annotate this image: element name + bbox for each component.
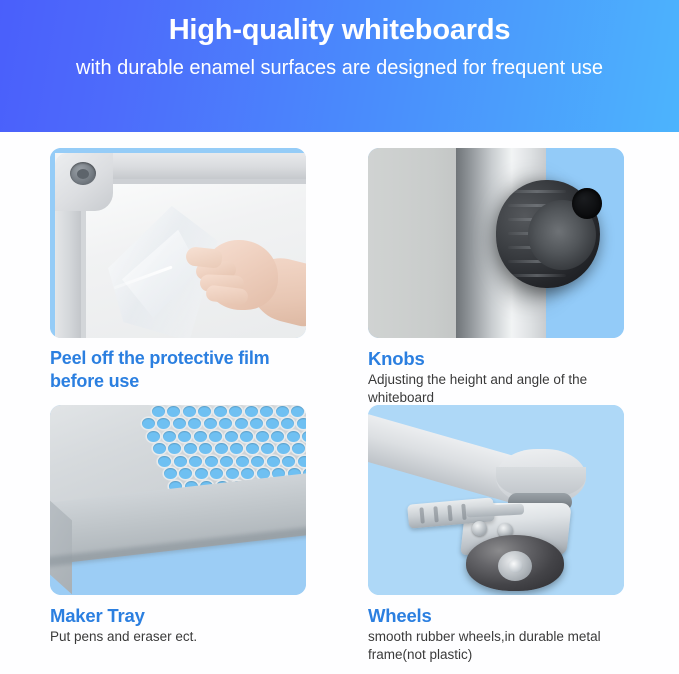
tray-hole [267,456,280,467]
tray-hole [282,456,295,467]
whiteboard-edge-panel [368,148,461,338]
tray-hole [168,443,181,454]
tray-hole [246,443,259,454]
brake-rib [419,507,424,523]
header-banner: High-quality whiteboards with durable en… [0,0,679,132]
tray-hole [291,406,304,417]
tray-hole [163,431,176,442]
feature-title: Maker Tray [50,604,306,627]
tray-hole [198,406,211,417]
bracket-bolt [472,521,487,536]
tray-hole [164,468,177,479]
tray-hole [173,418,186,429]
tray-hole [281,418,294,429]
tray-hole [153,443,166,454]
feature-description: Put pens and eraser ect. [50,628,306,646]
tray-hole [276,406,289,417]
wheels-photo [368,405,624,595]
tray-hole [235,418,248,429]
tray-hole [188,418,201,429]
tray-hole [241,468,254,479]
tray-hole [251,456,264,467]
tray-hole [229,406,242,417]
tray-hole [142,418,155,429]
caption: Wheels smooth rubber wheels,in durable m… [368,595,624,664]
tray-hole [236,456,249,467]
tray-hole [298,456,306,467]
feature-title: Knobs [368,347,624,370]
tray-hole [157,418,170,429]
tray-hole [302,431,306,442]
tray-hole [167,406,180,417]
tray-hole [219,418,232,429]
tray-hole [147,431,160,442]
tray-hole [271,431,284,442]
feature-card-protective-film: Peel off the protective film before use [50,148,306,338]
feature-description: smooth rubber wheels,in durable metal fr… [368,628,624,664]
protective-film-photo [50,148,306,338]
tray-hole [174,456,187,467]
hand [178,226,306,338]
tray-hole [297,418,306,429]
feature-description: Adjusting the height and angle of the wh… [368,371,624,407]
tray-hole [261,443,274,454]
tray-hole [260,406,273,417]
tray-hole [220,456,233,467]
corner-screw-recess-icon [70,162,96,185]
tray-hole [183,406,196,417]
page-subtitle: with durable enamel surfaces are designe… [76,55,603,82]
tray-hole [189,456,202,467]
tray-hole [209,431,222,442]
tray-hole [158,456,171,467]
tray-hole [277,443,290,454]
knob-rib [508,190,566,193]
tray-hole [214,406,227,417]
brake-rib [447,505,452,521]
tray-hole [195,468,208,479]
tray-hole [292,443,305,454]
maker-tray-photo [50,405,306,595]
frame-top-rail [80,153,306,179]
tray-hole [225,431,238,442]
wheel-axle-bolt [508,559,523,573]
tray-hole [205,456,218,467]
tray-hole [199,443,212,454]
feature-title: Peel off the protective film before use [50,347,306,393]
caption: Peel off the protective film before use [50,338,306,393]
feature-title: Wheels [368,604,624,627]
tray-hole [245,406,258,417]
knob-center-hole [572,188,602,219]
thumb [185,246,223,269]
caption: Maker Tray Put pens and eraser ect. [50,595,306,646]
tray-hole [194,431,207,442]
brake-rib [433,506,438,522]
tray-hole [178,431,191,442]
page-title: High-quality whiteboards [169,12,511,49]
tray-hole [215,443,228,454]
tray-hole [250,418,263,429]
tray-hole [256,431,269,442]
tray-hole [179,468,192,479]
tray-hole [204,418,217,429]
feature-card-wheels: Wheels smooth rubber wheels,in durable m… [368,405,624,595]
tray-hole [230,443,243,454]
tray-hole [287,431,300,442]
caption: Knobs Adjusting the height and angle of … [368,338,624,407]
feature-card-knobs: Knobs Adjusting the height and angle of … [368,148,624,338]
tray-hole [184,443,197,454]
tray-hole [226,468,239,479]
tray-hole [240,431,253,442]
feature-grid: Peel off the protective film before use [0,132,679,674]
tray-hole [266,418,279,429]
feature-card-maker-tray: Maker Tray Put pens and eraser ect. [50,405,306,595]
tray-hole [152,406,165,417]
tray-hole [210,468,223,479]
knob-rib [508,274,566,277]
knob-photo [368,148,624,338]
